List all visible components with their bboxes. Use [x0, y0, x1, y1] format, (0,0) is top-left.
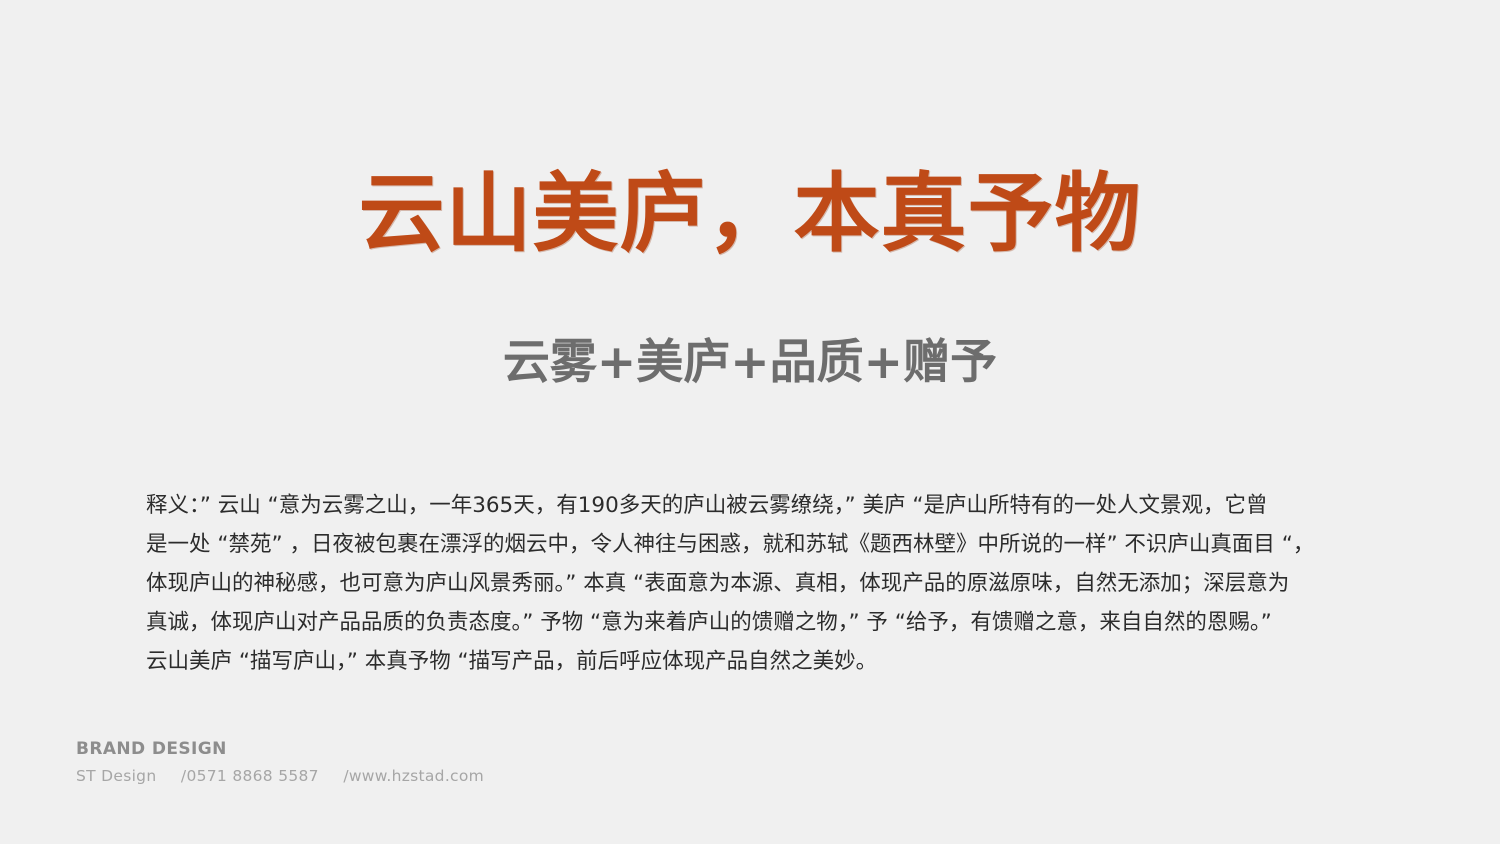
body-line: 真诚，体现庐山对产品品质的负责态度。” 予物 “意为来着庐山的馈赠之物，” 予 … [146, 603, 1361, 642]
body-line: 体现庐山的神秘感，也可意为庐山风景秀丽。” 本真 “表面意为本源、真相，体现产品… [146, 564, 1361, 603]
body-paragraph: 释义：” 云山 “意为云雾之山，一年365天，有190多天的庐山被云雾缭绕，” … [146, 486, 1361, 681]
body-line: 云山美庐 “描写庐山，” 本真予物 “描写产品，前后呼应体现产品自然之美妙。 [146, 642, 1361, 681]
footer-website: /www.hzstad.com [343, 767, 484, 785]
footer-phone: /0571 8868 5587 [181, 767, 319, 785]
page-title: 云山美庐，本真予物 [359, 168, 1142, 261]
page-subtitle: 云雾+美庐+品质+赠予 [503, 336, 997, 390]
subtitle-block: 云雾+美庐+品质+赠予 [0, 336, 1500, 390]
body-line: 释义：” 云山 “意为云雾之山，一年365天，有190多天的庐山被云雾缭绕，” … [146, 486, 1361, 525]
footer-studio-name: ST Design [76, 767, 156, 785]
body-line: 是一处 “禁苑” ，日夜被包裹在漂浮的烟云中，令人神往与困惑，就和苏轼《题西林壁… [146, 525, 1361, 564]
main-title-block: 云山美庐，本真予物 [0, 168, 1500, 261]
footer-brand-label: BRAND DESIGN [76, 738, 676, 760]
footer-meta: ST Design /0571 8868 5587 /www.hzstad.co… [76, 764, 676, 788]
footer: BRAND DESIGN ST Design /0571 8868 5587 /… [76, 738, 676, 788]
slide-canvas: 云山美庐，本真予物 云雾+美庐+品质+赠予 释义：” 云山 “意为云雾之山，一年… [0, 0, 1500, 844]
